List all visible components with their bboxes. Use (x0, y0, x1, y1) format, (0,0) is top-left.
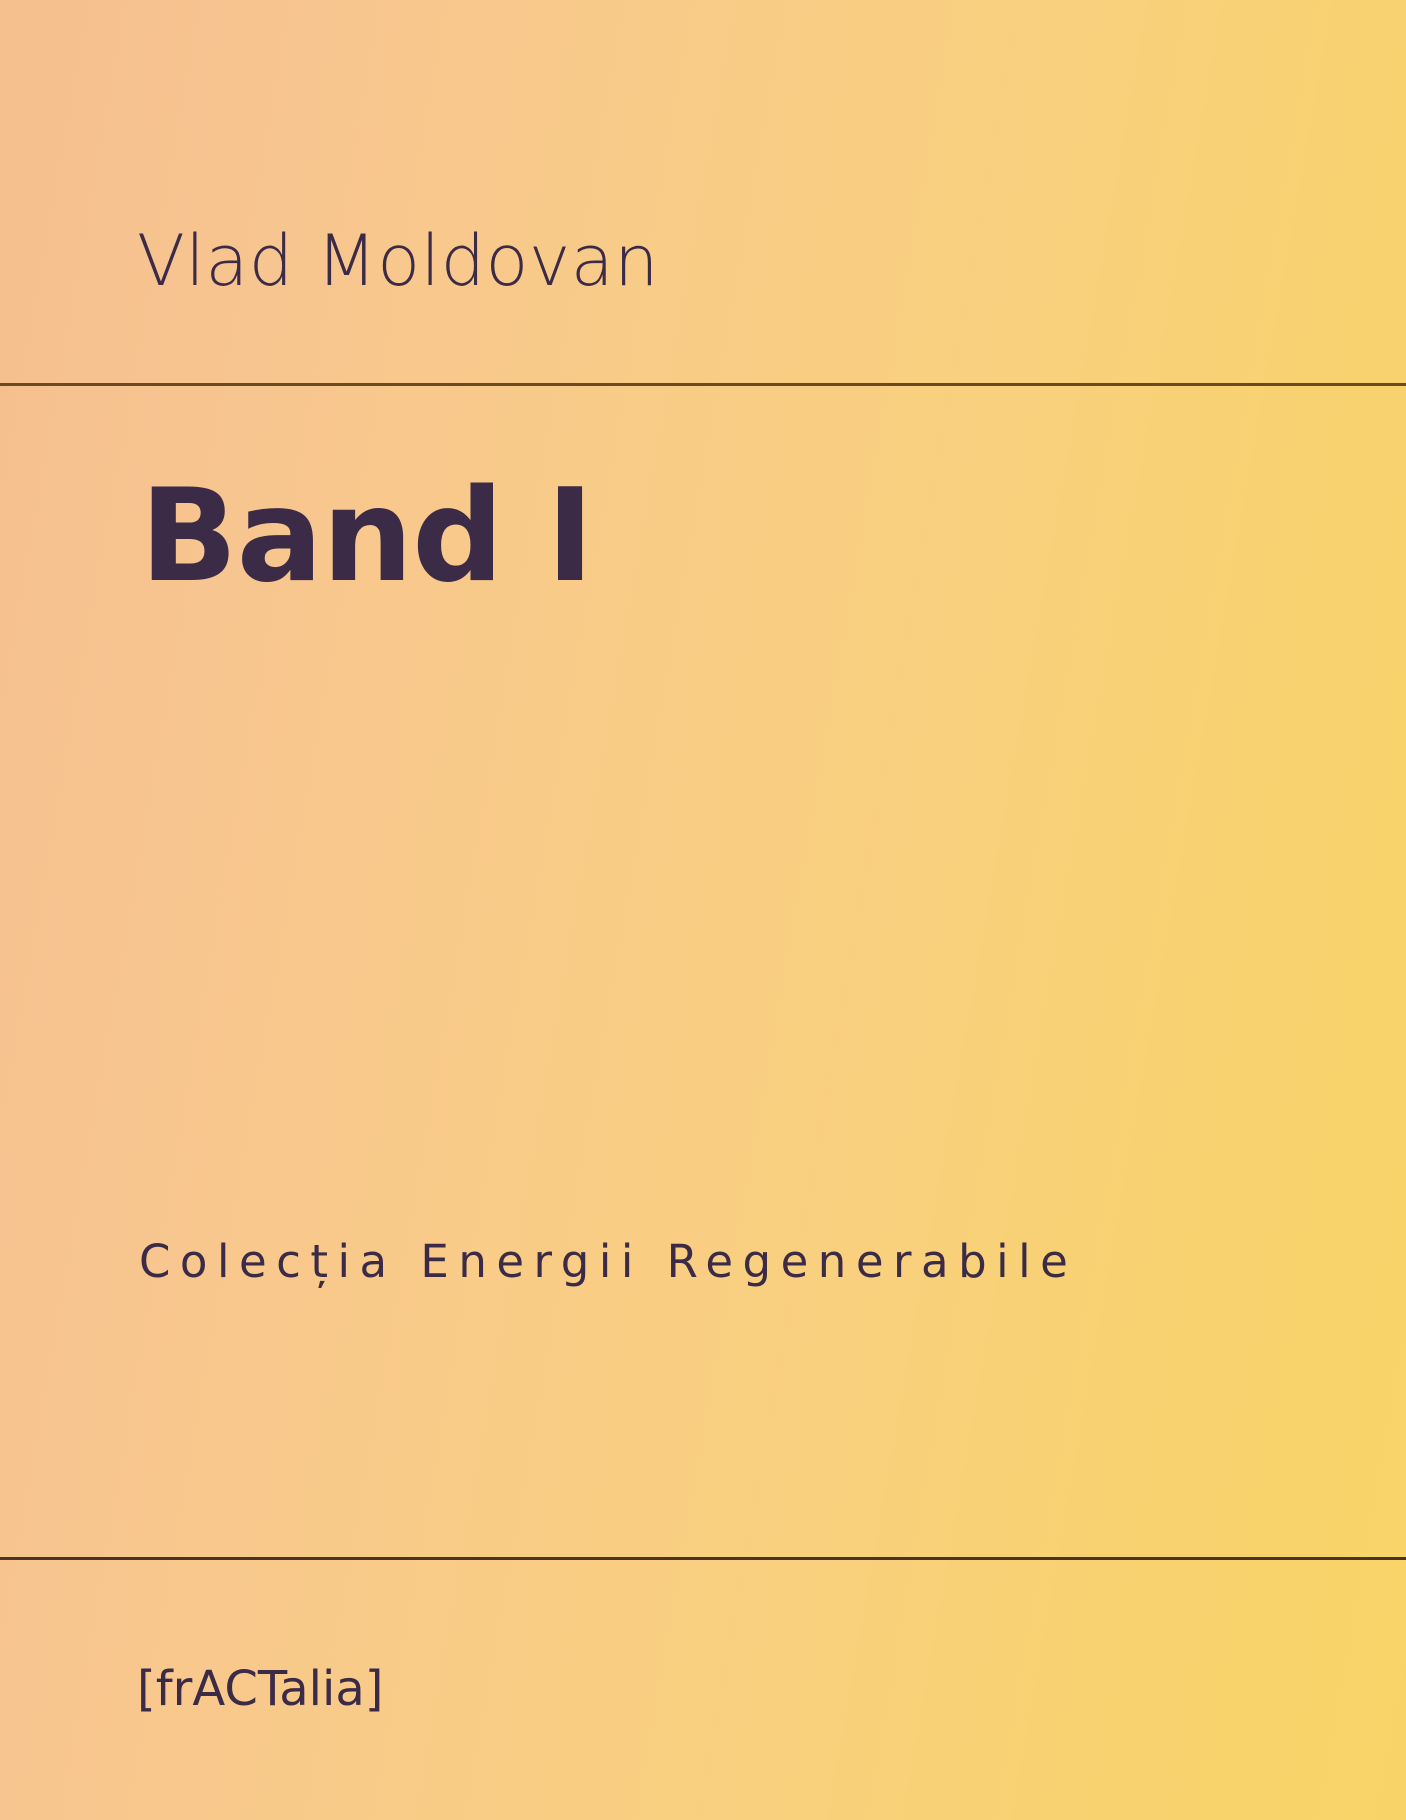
publisher-band: [frACTalia] (0, 1560, 1406, 1820)
title-band: Band I Colecția Energii Regenerabile (0, 386, 1406, 1557)
collection-name: Colecția Energii Regenerabile (139, 1239, 1077, 1284)
book-title: Band I (140, 473, 593, 601)
book-cover: Vlad Moldovan Band I Colecția Energii Re… (0, 0, 1406, 1820)
publisher-name: [frACTalia] (137, 1665, 383, 1713)
author-name: Vlad Moldovan (137, 226, 659, 296)
author-band: Vlad Moldovan (0, 0, 1406, 384)
